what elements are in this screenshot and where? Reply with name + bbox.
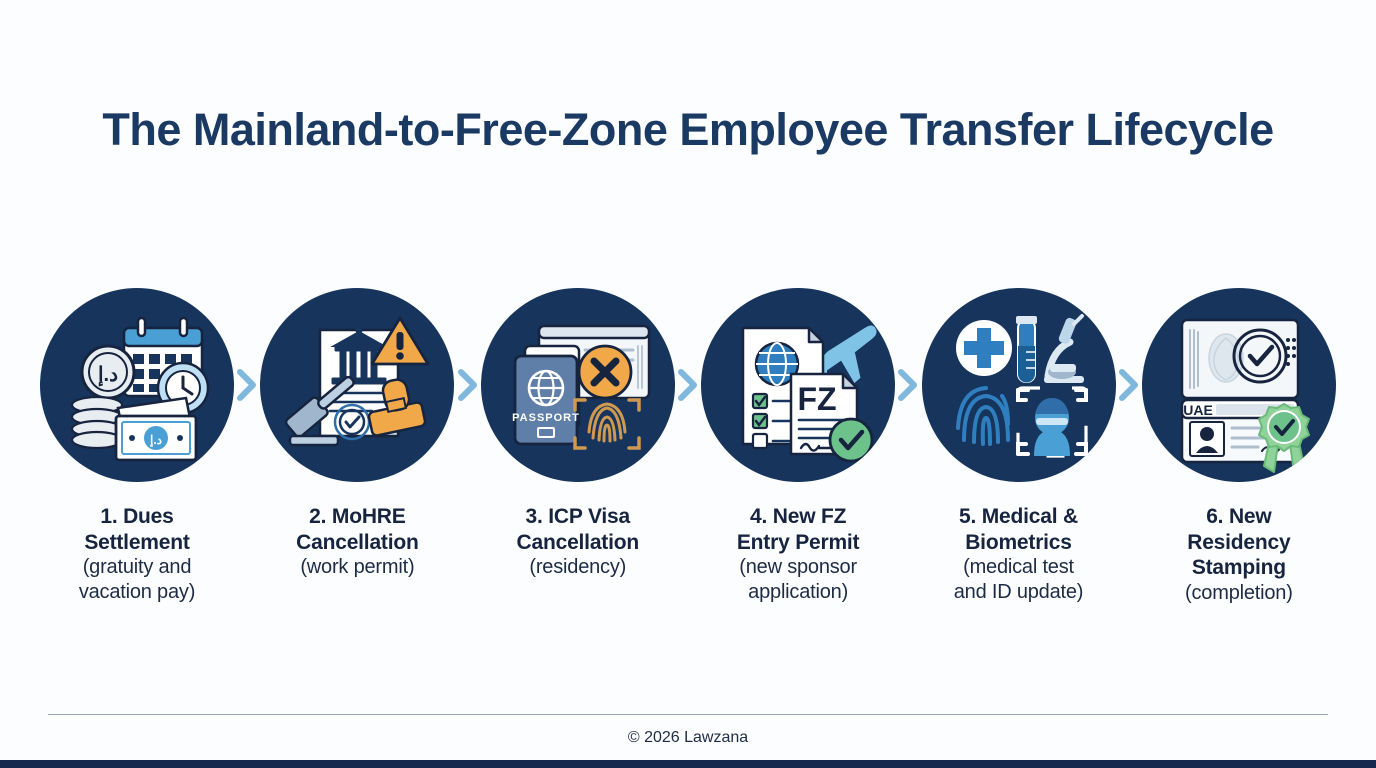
step-2-icon-circle: [260, 288, 454, 482]
step-2-sub-line1: (work permit): [252, 555, 462, 579]
medical-biometrics-icon: [922, 288, 1116, 482]
step-3-icon-circle: PASSPORT: [481, 288, 675, 482]
step-3-title-line1: 3. ICP Visa: [473, 504, 683, 530]
svg-text:د.إ: د.إ: [98, 364, 118, 387]
steps-row: د.إ د.إ: [40, 288, 1336, 605]
icp-visa-cancellation-icon: PASSPORT: [481, 288, 675, 482]
connector-arrow-5: [1116, 288, 1142, 482]
dues-settlement-icon: د.إ د.إ: [40, 288, 234, 482]
step-6-icon-circle: UAE: [1142, 288, 1336, 482]
svg-text:د.إ: د.إ: [150, 433, 162, 448]
step-5-icon-circle: [922, 288, 1116, 482]
step-1-sub-line1: (gratuity and: [32, 555, 242, 579]
step-4-title-line2: Entry Permit: [693, 530, 903, 556]
connector-arrow-4: [895, 288, 921, 482]
step-1-dues-settlement[interactable]: د.إ د.إ: [40, 288, 234, 604]
step-2-label: 2. MoHRE Cancellation (work permit): [252, 504, 462, 580]
connector-arrow-1: [234, 288, 260, 482]
step-3-title-line2: Cancellation: [473, 530, 683, 556]
footer-divider: [48, 714, 1328, 715]
chevron-right-icon: [1118, 368, 1140, 402]
step-1-title-line1: 1. Dues: [32, 504, 242, 530]
connector-arrow-3: [675, 288, 701, 482]
step-4-icon-circle: FZ: [701, 288, 895, 482]
svg-text:UAE: UAE: [1183, 402, 1213, 418]
step-4-new-fz-entry-permit[interactable]: FZ 4. New FZ Entry Permit (new sponso: [701, 288, 895, 604]
step-3-icp-visa-cancellation[interactable]: PASSPORT: [481, 288, 675, 580]
step-6-sub-line1: (completion): [1134, 581, 1344, 605]
step-4-sub-line1: (new sponsor: [693, 555, 903, 579]
bottom-accent-bar: [0, 760, 1376, 768]
page-title: The Mainland-to-Free-Zone Employee Trans…: [0, 104, 1376, 156]
step-6-title-line1: 6. New: [1134, 504, 1344, 530]
step-4-sub-line2: application): [693, 580, 903, 604]
mohre-cancellation-icon: [260, 288, 454, 482]
step-6-label: 6. New Residency Stamping (completion): [1134, 504, 1344, 605]
step-5-label: 5. Medical & Biometrics (medical test an…: [914, 504, 1124, 604]
step-4-label: 4. New FZ Entry Permit (new sponsor appl…: [693, 504, 903, 604]
step-3-label: 3. ICP Visa Cancellation (residency): [473, 504, 683, 580]
copyright-text: © 2026 Lawzana: [0, 729, 1376, 747]
step-5-sub-line1: (medical test: [914, 555, 1124, 579]
svg-text:PASSPORT: PASSPORT: [512, 412, 580, 424]
step-1-icon-circle: د.إ د.إ: [40, 288, 234, 482]
step-1-sub-line2: vacation pay): [32, 580, 242, 604]
svg-text:FZ: FZ: [798, 381, 837, 417]
step-1-title-line2: Settlement: [32, 530, 242, 556]
step-6-title-line3: Stamping: [1134, 555, 1344, 581]
step-5-title-line1: 5. Medical &: [914, 504, 1124, 530]
chevron-right-icon: [236, 368, 258, 402]
chevron-right-icon: [677, 368, 699, 402]
step-2-title-line2: Cancellation: [252, 530, 462, 556]
step-6-title-line2: Residency: [1134, 530, 1344, 556]
step-2-mohre-cancellation[interactable]: 2. MoHRE Cancellation (work permit): [260, 288, 454, 580]
step-3-sub-line1: (residency): [473, 555, 683, 579]
step-5-title-line2: Biometrics: [914, 530, 1124, 556]
step-5-medical-biometrics[interactable]: 5. Medical & Biometrics (medical test an…: [922, 288, 1116, 604]
step-2-title-line1: 2. MoHRE: [252, 504, 462, 530]
step-1-label: 1. Dues Settlement (gratuity and vacatio…: [32, 504, 242, 604]
new-fz-entry-permit-icon: FZ: [701, 288, 895, 482]
chevron-right-icon: [457, 368, 479, 402]
infographic-page: The Mainland-to-Free-Zone Employee Trans…: [0, 0, 1376, 768]
connector-arrow-2: [455, 288, 481, 482]
new-residency-stamping-icon: UAE: [1142, 288, 1336, 482]
step-5-sub-line2: and ID update): [914, 580, 1124, 604]
step-4-title-line1: 4. New FZ: [693, 504, 903, 530]
step-6-new-residency-stamping[interactable]: UAE: [1142, 288, 1336, 605]
chevron-right-icon: [897, 368, 919, 402]
